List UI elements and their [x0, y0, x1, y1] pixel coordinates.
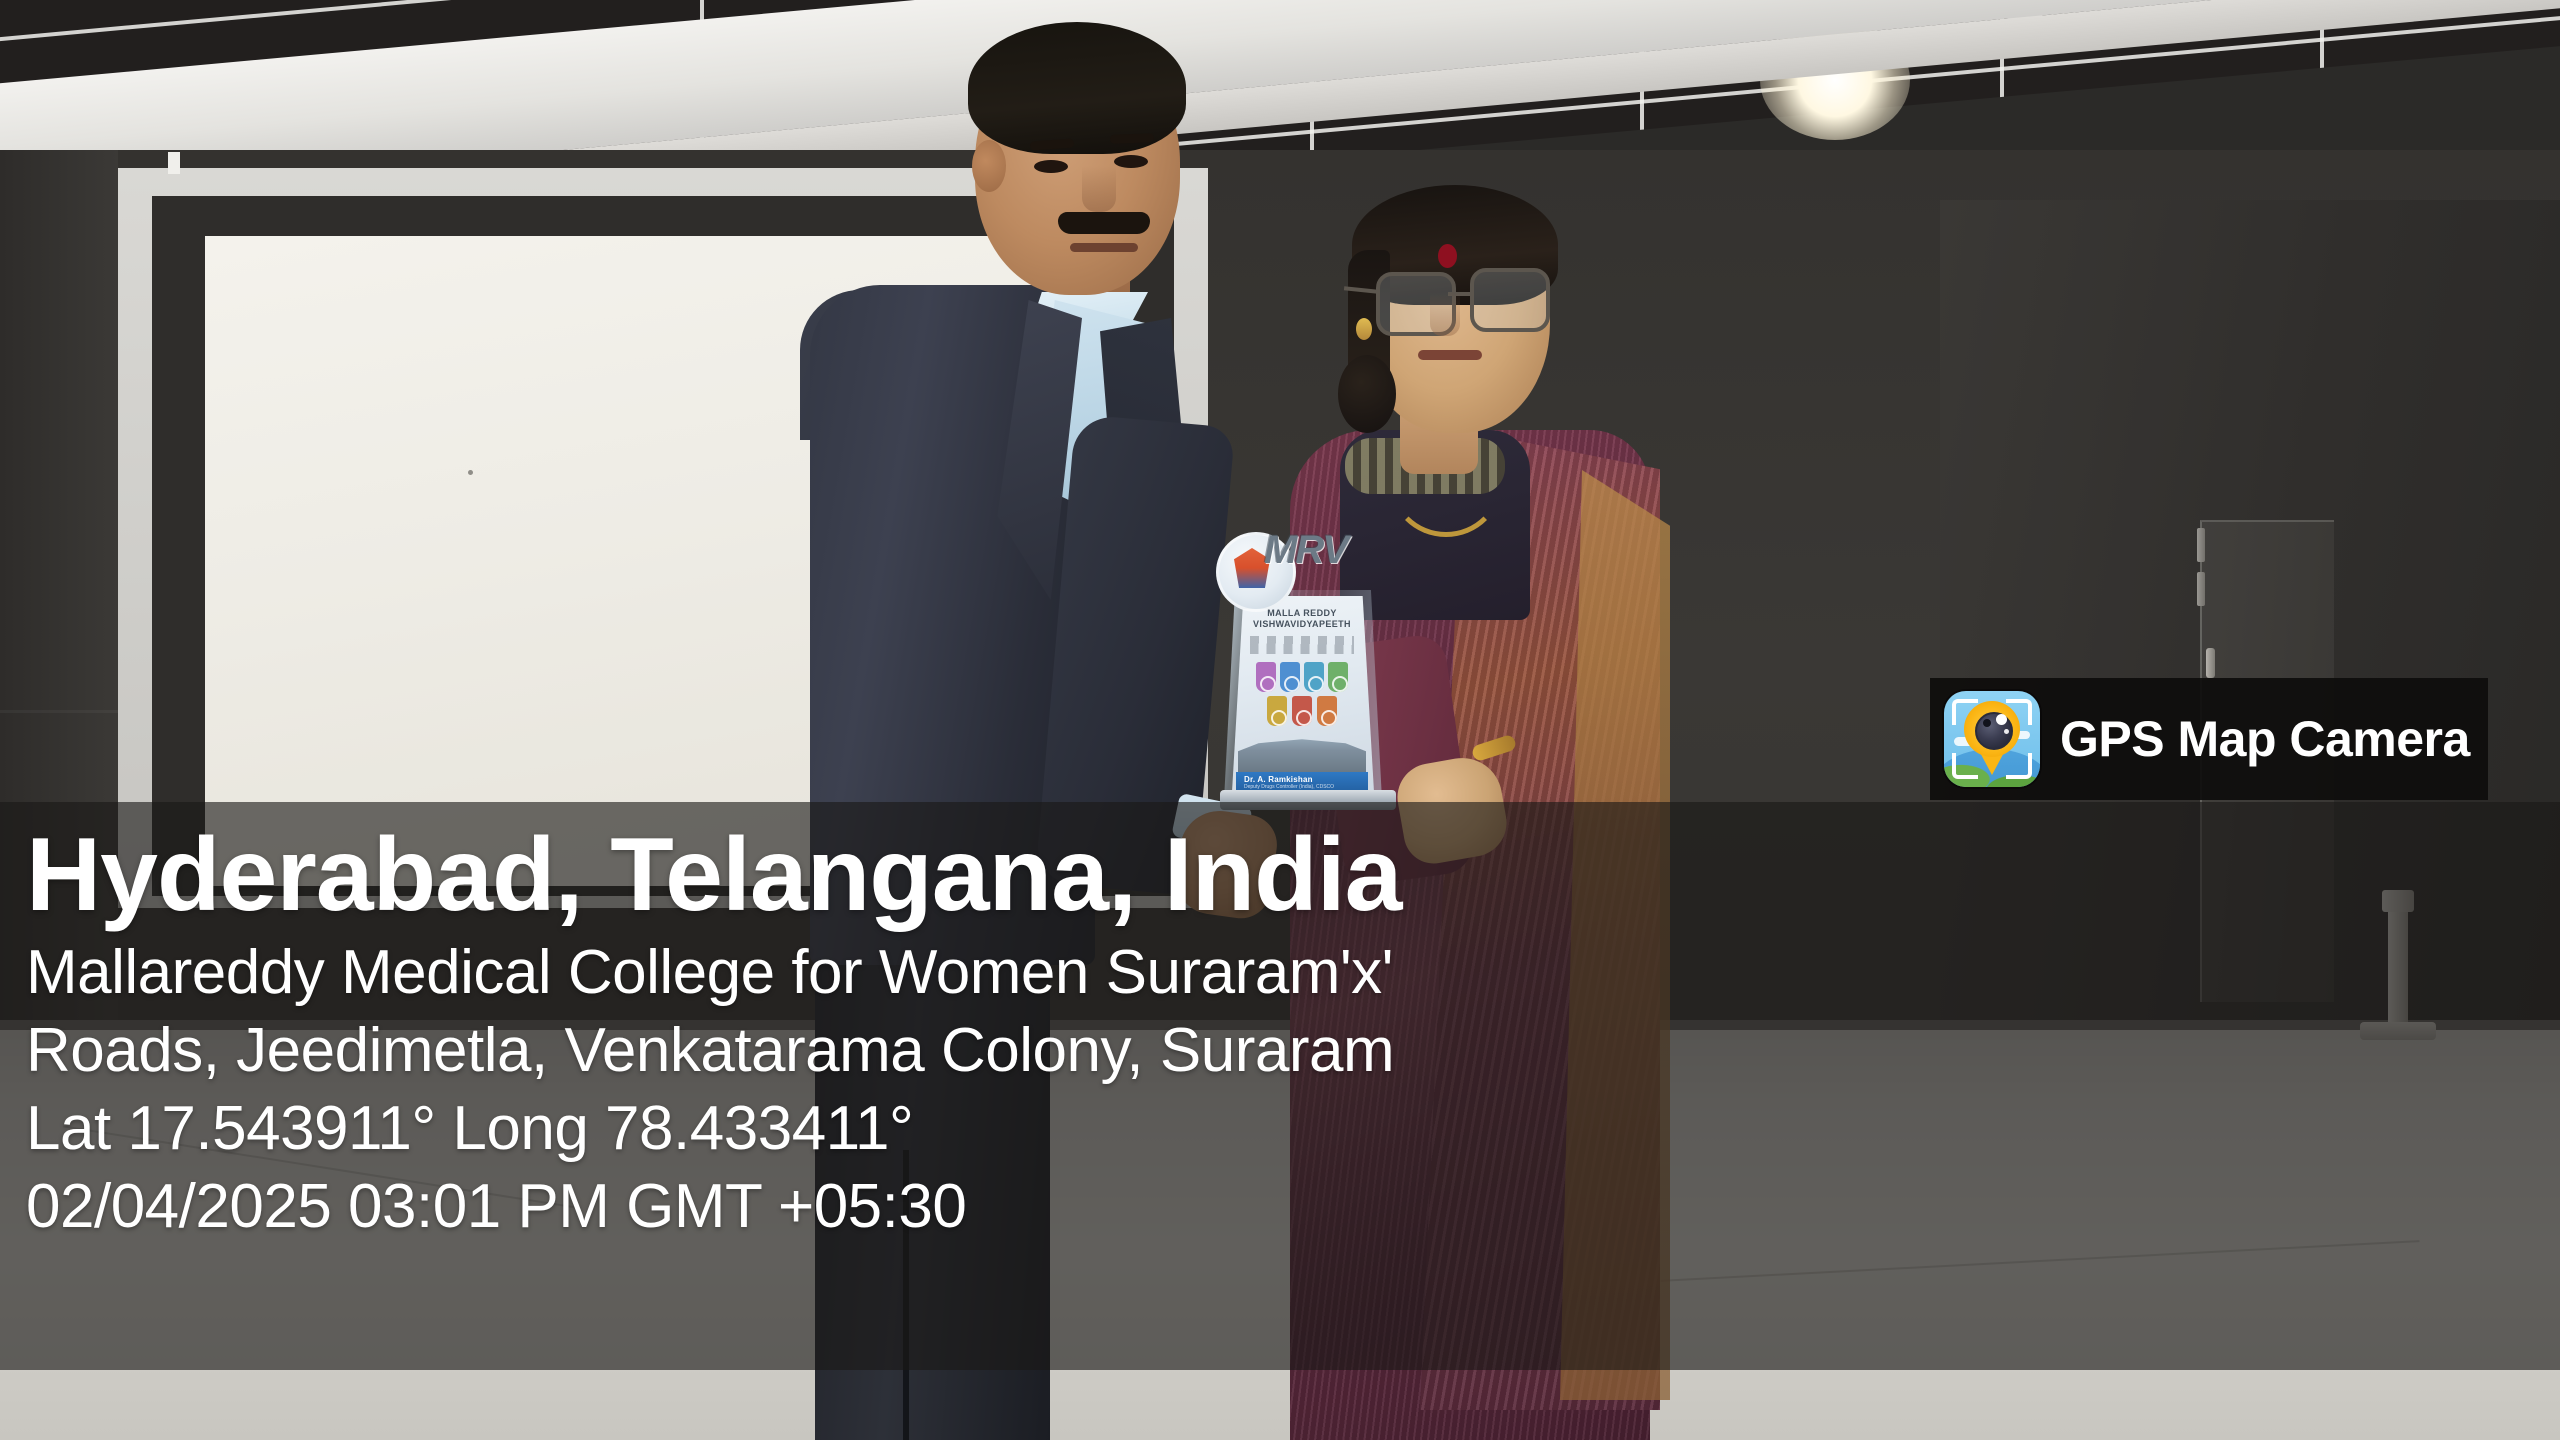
trophy-institution: MALLA REDDY VISHWAVIDYAPEETH: [1242, 608, 1362, 630]
viewfinder-corner-icon: [1952, 699, 1978, 725]
geotag-place: Hyderabad, Telangana, India: [26, 816, 2560, 934]
geotag-timestamp: 02/04/2025 03:01 PM GMT +05:30: [26, 1168, 2560, 1246]
trophy-monogram: MRV: [1264, 528, 1347, 573]
viewfinder-corner-icon: [1952, 753, 1978, 779]
door-handle[interactable]: [2206, 648, 2215, 678]
gps-map-camera-logo-icon: [1944, 691, 2040, 787]
award-trophy: MRV MALLA REDDY VISHWAVIDYAPEETH Dr. A. …: [1212, 504, 1412, 814]
bindi: [1438, 244, 1457, 268]
viewfinder-corner-icon: [2006, 753, 2032, 779]
viewfinder-corner-icon: [2006, 699, 2032, 725]
watermark-label: GPS Map Camera: [2060, 710, 2470, 768]
geotag-info-panel: Hyderabad, Telangana, India Mallareddy M…: [0, 802, 2560, 1370]
geotag-address-line-2: Roads, Jeedimetla, Venkatarama Colony, S…: [26, 1012, 2560, 1090]
gps-map-camera-watermark: GPS Map Camera: [1930, 678, 2488, 800]
trophy-nameplate-name: Dr. A. Ramkishan: [1236, 772, 1368, 784]
geotag-coordinates: Lat 17.543911° Long 78.433411°: [26, 1090, 2560, 1168]
geotagged-photo: MRV MALLA REDDY VISHWAVIDYAPEETH Dr. A. …: [0, 0, 2560, 1440]
geotag-address-line-1: Mallareddy Medical College for Women Sur…: [26, 934, 2560, 1012]
wall-sticker: [168, 152, 180, 174]
eyeglasses-right-lens: [1470, 268, 1550, 332]
